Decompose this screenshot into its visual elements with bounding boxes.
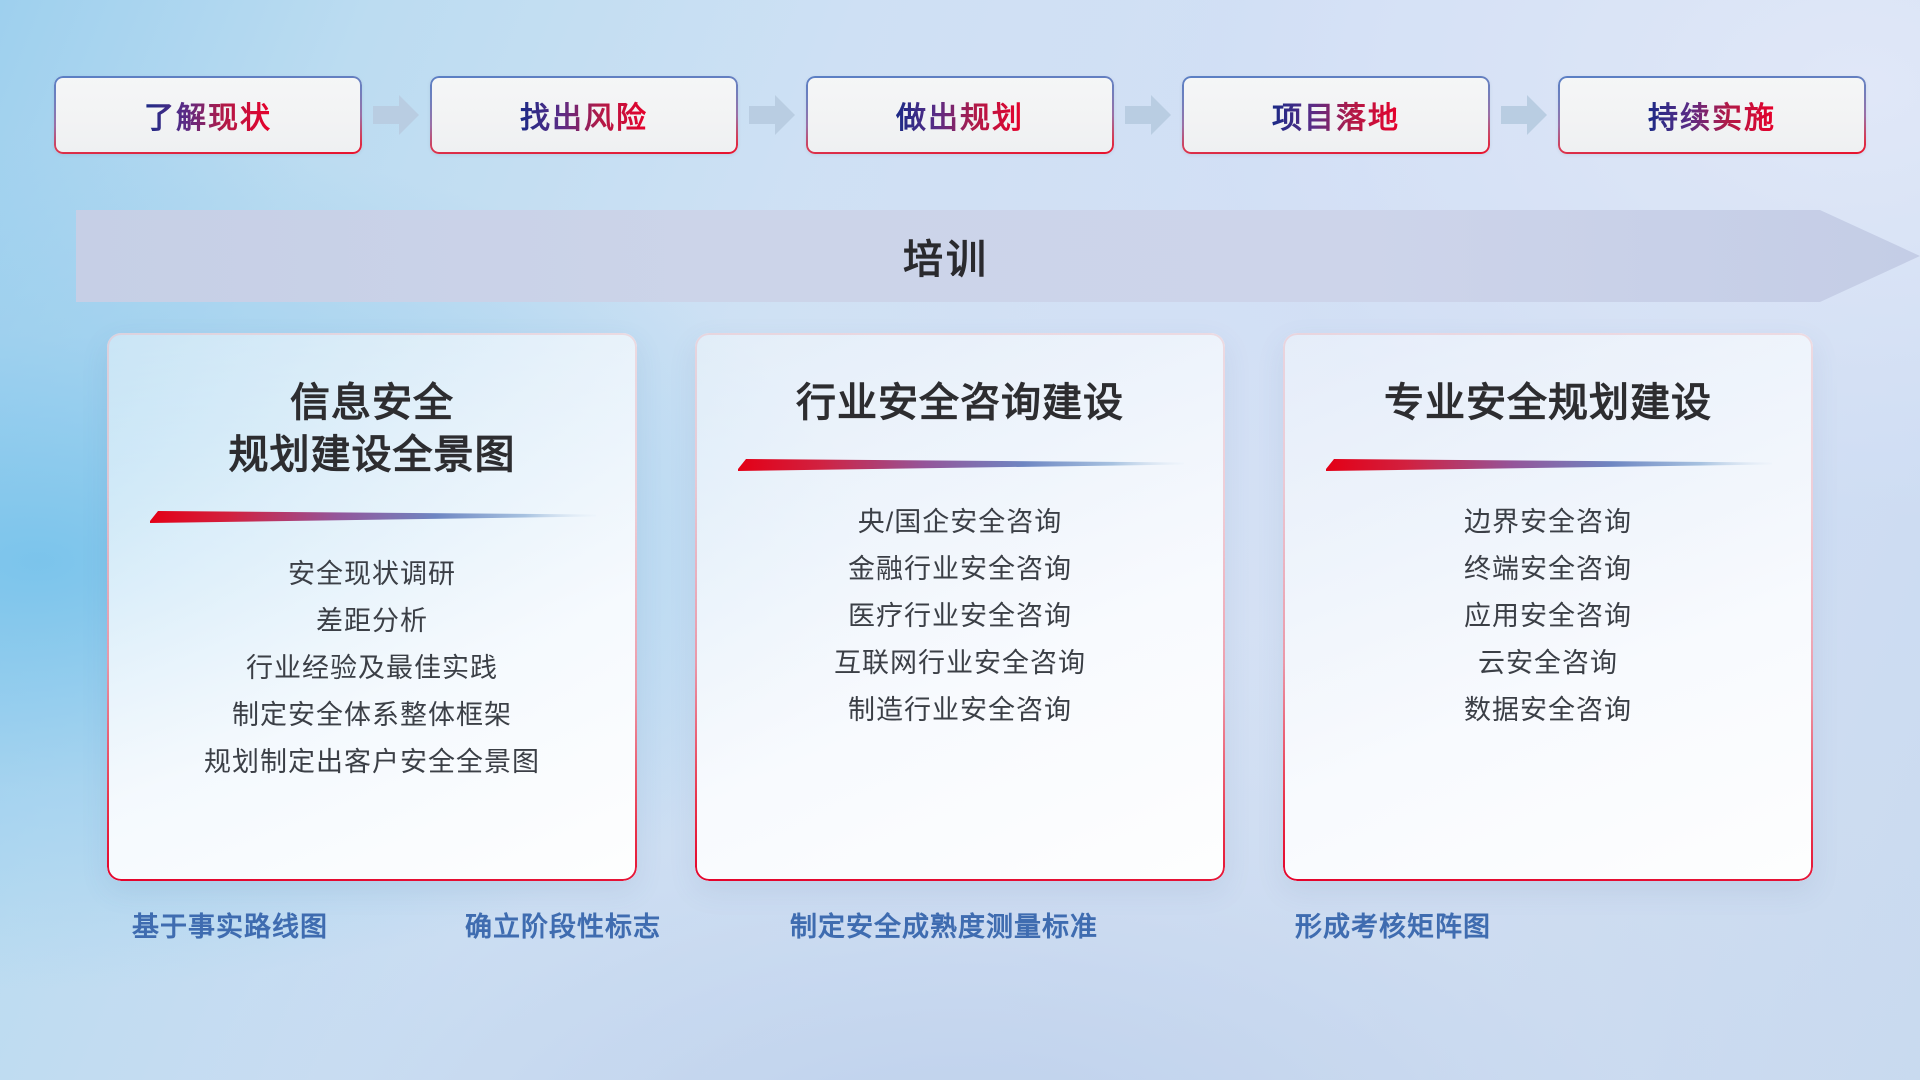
list-item: 差距分析 <box>204 598 540 645</box>
arrow-right-icon <box>738 76 806 154</box>
list-item: 安全现状调研 <box>204 551 540 598</box>
card-title: 信息安全 规划建设全景图 <box>229 377 516 481</box>
process-step-2[interactable]: 找出风险 <box>430 76 738 154</box>
card-divider-rule <box>736 455 1184 473</box>
process-step-label: 做出规划 <box>896 93 1024 137</box>
process-step-5[interactable]: 持续实施 <box>1558 76 1866 154</box>
process-step-1[interactable]: 了解现状 <box>54 76 362 154</box>
list-item: 互联网行业安全咨询 <box>834 640 1086 687</box>
card-professional-security-planning[interactable]: 专业安全规划建设 边界安全咨询 终端安全咨询 应用安 <box>1283 333 1813 881</box>
cards-row: 信息安全 规划建设全景图 安全现状调研 差距分析 行 <box>0 333 1920 883</box>
training-band: 培训 <box>76 210 1920 302</box>
card-item-list: 安全现状调研 差距分析 行业经验及最佳实践 制定安全体系整体框架 规划制定出客户… <box>204 551 540 786</box>
list-item: 行业经验及最佳实践 <box>204 645 540 692</box>
card-divider-rule <box>148 507 596 525</box>
footer-note: 确立阶段性标志 <box>465 905 661 944</box>
footer-notes-row: 基于事实路线图 确立阶段性标志 制定安全成熟度测量标准 形成考核矩阵图 <box>0 905 1920 965</box>
card-industry-security-consulting[interactable]: 行业安全咨询建设 央/国企安全咨询 金融行业安全咨询 <box>695 333 1225 881</box>
footer-note: 制定安全成熟度测量标准 <box>790 905 1098 944</box>
list-item: 云安全咨询 <box>1464 640 1632 687</box>
list-item: 制定安全体系整体框架 <box>204 692 540 739</box>
list-item: 央/国企安全咨询 <box>834 499 1086 546</box>
list-item: 金融行业安全咨询 <box>834 546 1086 593</box>
list-item: 应用安全咨询 <box>1464 593 1632 640</box>
list-item: 终端安全咨询 <box>1464 546 1632 593</box>
process-step-label: 了解现状 <box>144 93 272 137</box>
card-divider-rule <box>1324 455 1772 473</box>
footer-note: 形成考核矩阵图 <box>1295 905 1491 944</box>
footer-note: 基于事实路线图 <box>132 905 328 944</box>
list-item: 医疗行业安全咨询 <box>834 593 1086 640</box>
process-step-label: 持续实施 <box>1648 93 1776 137</box>
card-item-list: 央/国企安全咨询 金融行业安全咨询 医疗行业安全咨询 互联网行业安全咨询 制造行… <box>834 499 1086 734</box>
arrow-right-icon <box>362 76 430 154</box>
list-item: 数据安全咨询 <box>1464 687 1632 734</box>
card-info-security-blueprint[interactable]: 信息安全 规划建设全景图 安全现状调研 差距分析 行 <box>107 333 637 881</box>
process-step-3[interactable]: 做出规划 <box>806 76 1114 154</box>
process-step-label: 找出风险 <box>520 93 648 137</box>
band-label: 培训 <box>76 210 1816 302</box>
list-item: 制造行业安全咨询 <box>834 687 1086 734</box>
process-step-4[interactable]: 项目落地 <box>1182 76 1490 154</box>
card-title: 专业安全规划建设 <box>1384 377 1712 429</box>
card-item-list: 边界安全咨询 终端安全咨询 应用安全咨询 云安全咨询 数据安全咨询 <box>1464 499 1632 734</box>
process-steps-row: 了解现状 找出风险 做出规划 项目落地 持续实施 <box>0 75 1920 155</box>
arrow-right-icon <box>1114 76 1182 154</box>
card-title: 行业安全咨询建设 <box>796 377 1124 429</box>
list-item: 规划制定出客户安全全景图 <box>204 739 540 786</box>
process-step-label: 项目落地 <box>1272 93 1400 137</box>
list-item: 边界安全咨询 <box>1464 499 1632 546</box>
arrow-right-icon <box>1490 76 1558 154</box>
